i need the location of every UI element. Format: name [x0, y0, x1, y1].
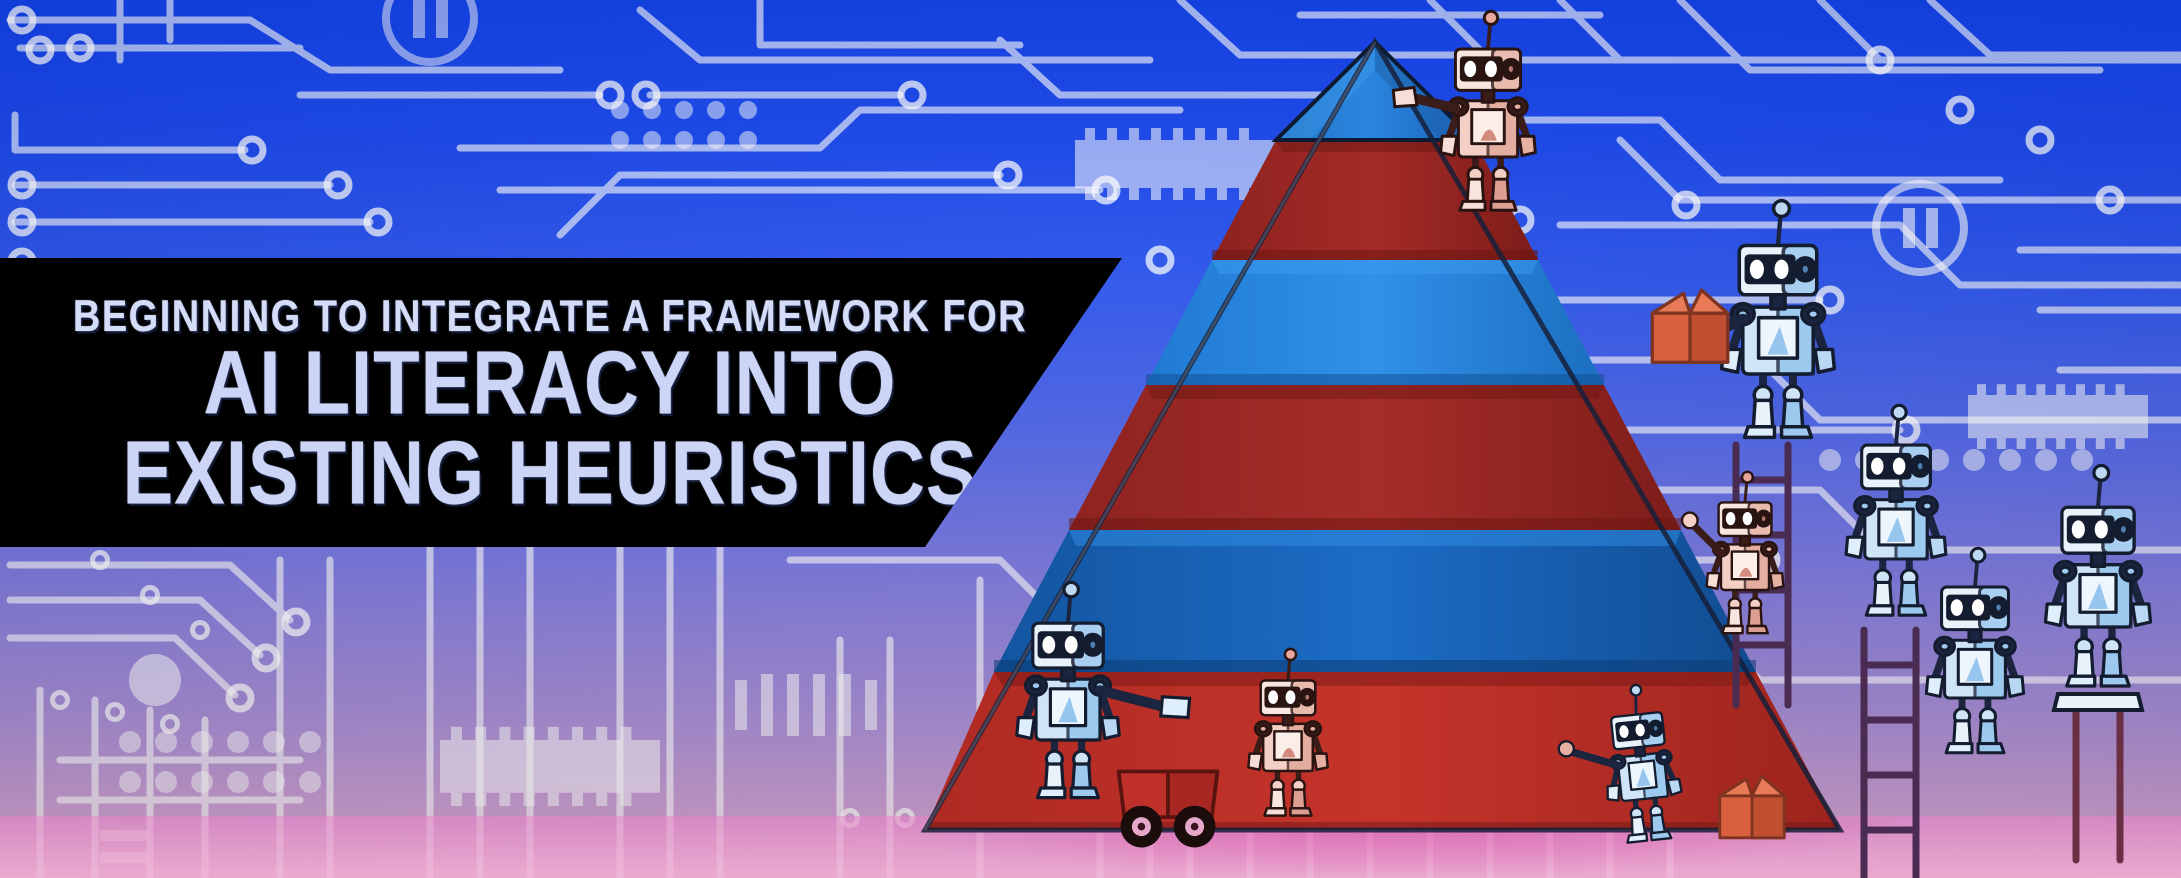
banner-line-1: AI Literacy Into [100, 340, 1000, 427]
floor-glow [880, 820, 1900, 878]
banner-canvas: Beginning to Integrate a Framework for A… [0, 0, 2181, 878]
banner-line-2: Existing Heuristics [100, 430, 1000, 517]
